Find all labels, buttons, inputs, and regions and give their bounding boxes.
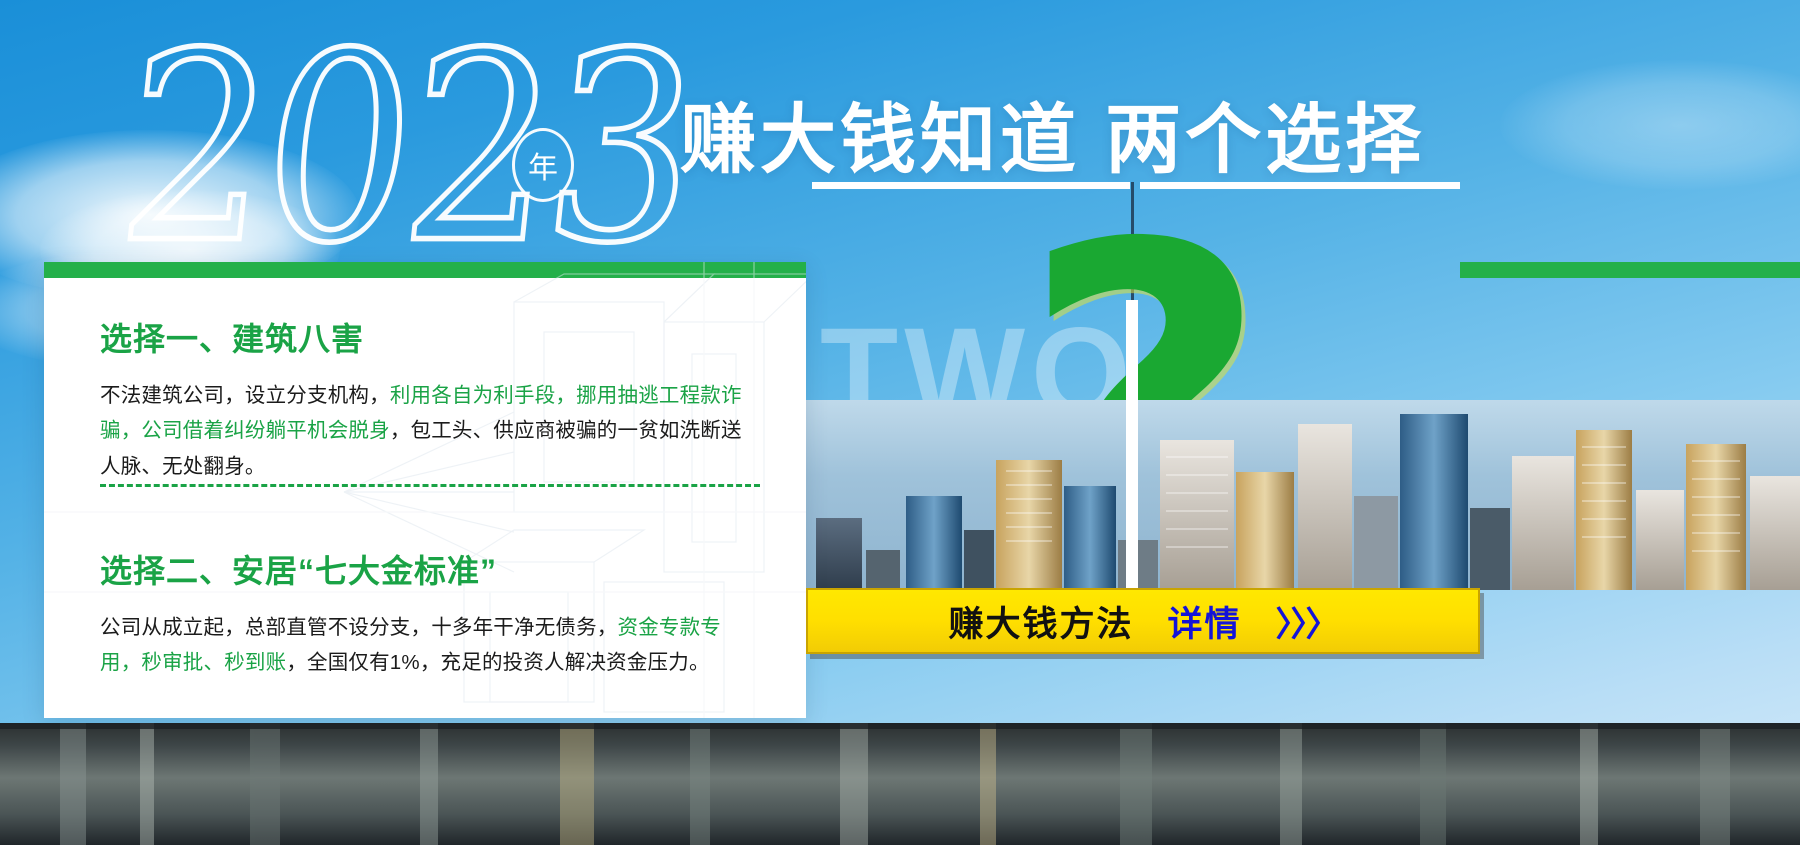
headline-rule-right: [1140, 182, 1460, 189]
section-two-text-c: ，全国仅有1%，充足的投资人解决资金压力。: [286, 651, 709, 674]
section-one-title: 选择一、建筑八害: [100, 314, 758, 360]
cloud-shape: [1500, 60, 1800, 190]
card-section-two: 选择二、安居“七大金标准” 公司从成立起，总部直管不设分支，十多年干净无债务，资…: [100, 546, 758, 681]
year-number: 2023: [112, 62, 678, 262]
cta-main-label: 赚大钱方法: [948, 596, 1133, 647]
section-two-body: 公司从成立起，总部直管不设分支，十多年干净无债务，资金专款专用，秒审批、秒到账，…: [100, 610, 758, 681]
question-mark-stem-highlight: [1126, 300, 1138, 620]
card-section-one: 选择一、建筑八害 不法建筑公司，设立分支机构，利用各自为利手段，挪用抽逃工程款诈…: [100, 314, 758, 484]
poster-canvas: 2023 年 赚大钱知道 两个选择 TWO CHOICES ?: [0, 0, 1800, 845]
year-suffix-badge: 年: [512, 128, 574, 202]
green-accent-bar: [1460, 262, 1800, 278]
chevron-right-icon: 〉〉〉: [1276, 597, 1338, 646]
cta-banner[interactable]: 赚大钱方法 详情 〉〉〉: [806, 588, 1480, 654]
cta-detail-link[interactable]: 详情: [1168, 596, 1242, 647]
water-streaks-svg: [0, 723, 1800, 845]
section-two-title: 选择二、安居“七大金标准”: [100, 546, 758, 592]
year-number-text: 2023: [112, 39, 702, 262]
year-suffix-text: 年: [528, 143, 558, 187]
city-skyline-svg: [806, 400, 1800, 590]
section-one-body: 不法建筑公司，设立分支机构，利用各自为利手段，挪用抽逃工程款诈骗，公司借着纠纷躺…: [100, 378, 758, 484]
section-two-text-a: 公司从成立起，总部直管不设分支，十多年干净无债务，: [100, 616, 618, 639]
question-mark-stem: [1131, 182, 1134, 300]
page-title: 赚大钱知道 两个选择: [680, 78, 1425, 188]
section-one-text-a: 不法建筑公司，设立分支机构，: [100, 384, 390, 407]
headline-rule-left: [812, 182, 1130, 189]
city-skyline-image: [806, 400, 1800, 590]
water-reflection-strip: [0, 723, 1800, 845]
info-card: 选择一、建筑八害 不法建筑公司，设立分支机构，利用各自为利手段，挪用抽逃工程款诈…: [44, 262, 806, 718]
section-divider: [100, 484, 760, 487]
